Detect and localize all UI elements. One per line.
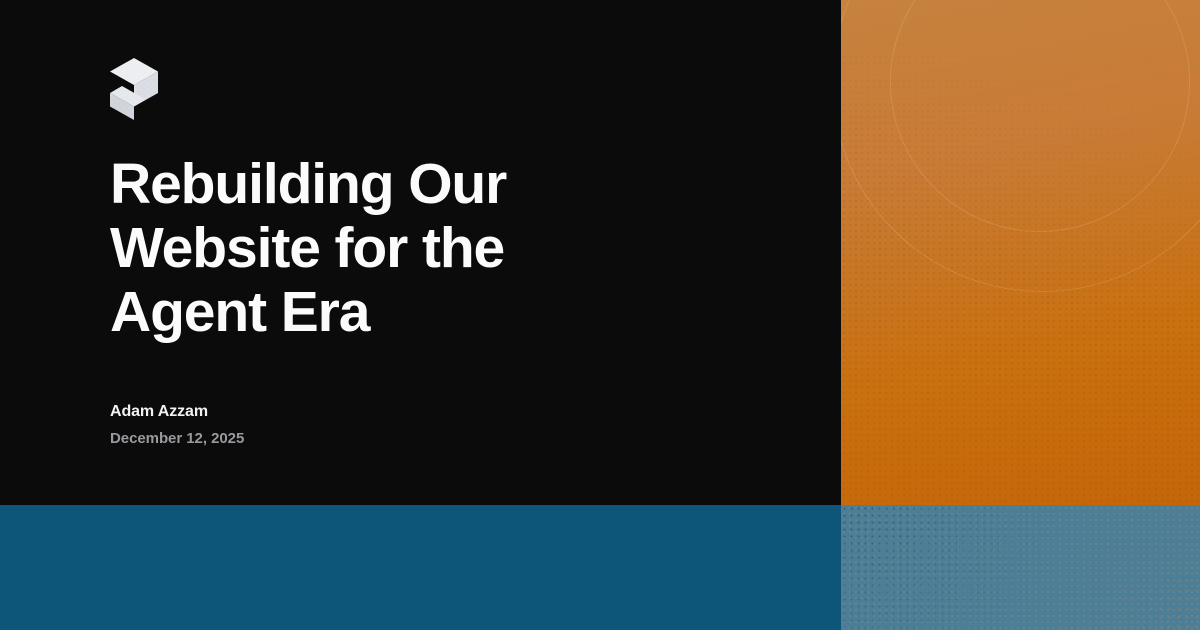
blog-title-card: Rebuilding Our Website for the Agent Era… bbox=[0, 0, 1200, 630]
blue-band-panel bbox=[0, 505, 841, 630]
steel-dot-cluster-bottom-right bbox=[841, 505, 1200, 630]
orange-gradient-panel bbox=[841, 0, 1200, 505]
byline: Adam Azzam December 12, 2025 bbox=[110, 401, 244, 449]
card-content: Rebuilding Our Website for the Agent Era… bbox=[110, 0, 750, 505]
page-title: Rebuilding Our Website for the Agent Era bbox=[110, 152, 630, 344]
publish-date: December 12, 2025 bbox=[110, 429, 244, 449]
prefect-cube-logo-icon bbox=[110, 58, 158, 120]
steel-blue-panel bbox=[841, 505, 1200, 630]
author-name: Adam Azzam bbox=[110, 401, 244, 422]
